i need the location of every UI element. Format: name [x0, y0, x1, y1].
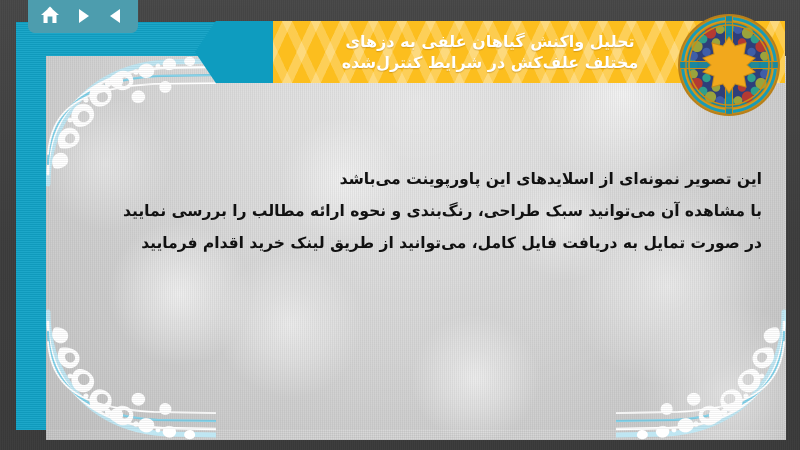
body-line-2: با مشاهده آن می‌توانید سبک طراحی، رنگ‌بن… [46, 196, 762, 228]
body-line-1: این تصویر نمونه‌ای از اسلایدهای این پاور… [46, 164, 762, 196]
teal-inner-frame: این تصویر نمونه‌ای از اسلایدهای این پاور… [16, 22, 784, 430]
title-wedge-shape [195, 21, 275, 83]
home-button[interactable] [37, 4, 63, 28]
triangle-right-icon [74, 7, 92, 25]
triangle-left-icon [107, 7, 125, 25]
next-slide-button[interactable] [70, 4, 96, 28]
arabesque-corner-bottom-right-icon [616, 290, 786, 440]
previous-slide-button[interactable] [103, 4, 129, 28]
body-line-3: در صورت تمایل به دریافت فایل کامل، می‌تو… [46, 228, 762, 260]
slide-canvas: این تصویر نمونه‌ای از اسلایدهای این پاور… [46, 56, 786, 440]
slide-navigation-bar [28, 0, 138, 33]
arabesque-corner-bottom-left-icon [46, 290, 216, 440]
home-icon [40, 6, 60, 25]
circular-medallion-icon [676, 12, 782, 118]
slide-body-text: این تصویر نمونه‌ای از اسلایدهای این پاور… [46, 164, 762, 259]
slide-root: این تصویر نمونه‌ای از اسلایدهای این پاور… [0, 0, 800, 450]
